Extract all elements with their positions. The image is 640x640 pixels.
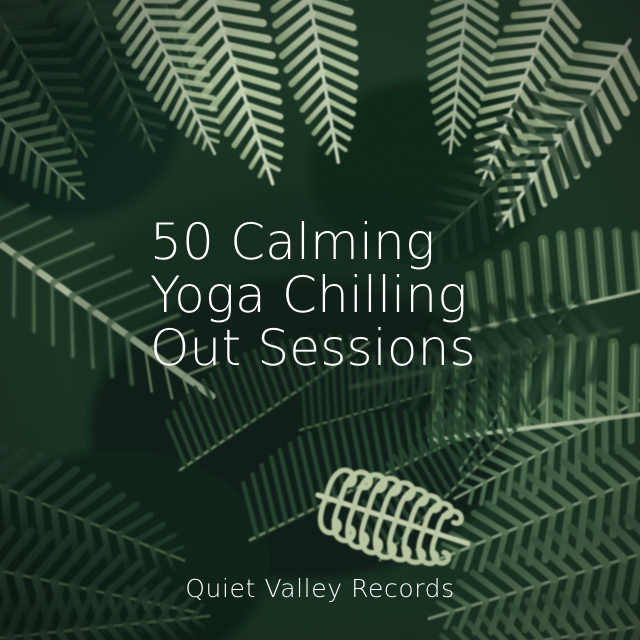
album-cover: 50 Calming Yoga Chilling Out Sessions Qu… bbox=[0, 0, 640, 640]
record-label-name: Quiet Valley Records bbox=[0, 574, 640, 603]
title-line-2: Yoga Chilling bbox=[150, 269, 570, 322]
title-line-1: 50 Calming bbox=[150, 216, 570, 269]
album-title: 50 Calming Yoga Chilling Out Sessions bbox=[150, 216, 570, 375]
title-line-3: Out Sessions bbox=[150, 322, 570, 375]
